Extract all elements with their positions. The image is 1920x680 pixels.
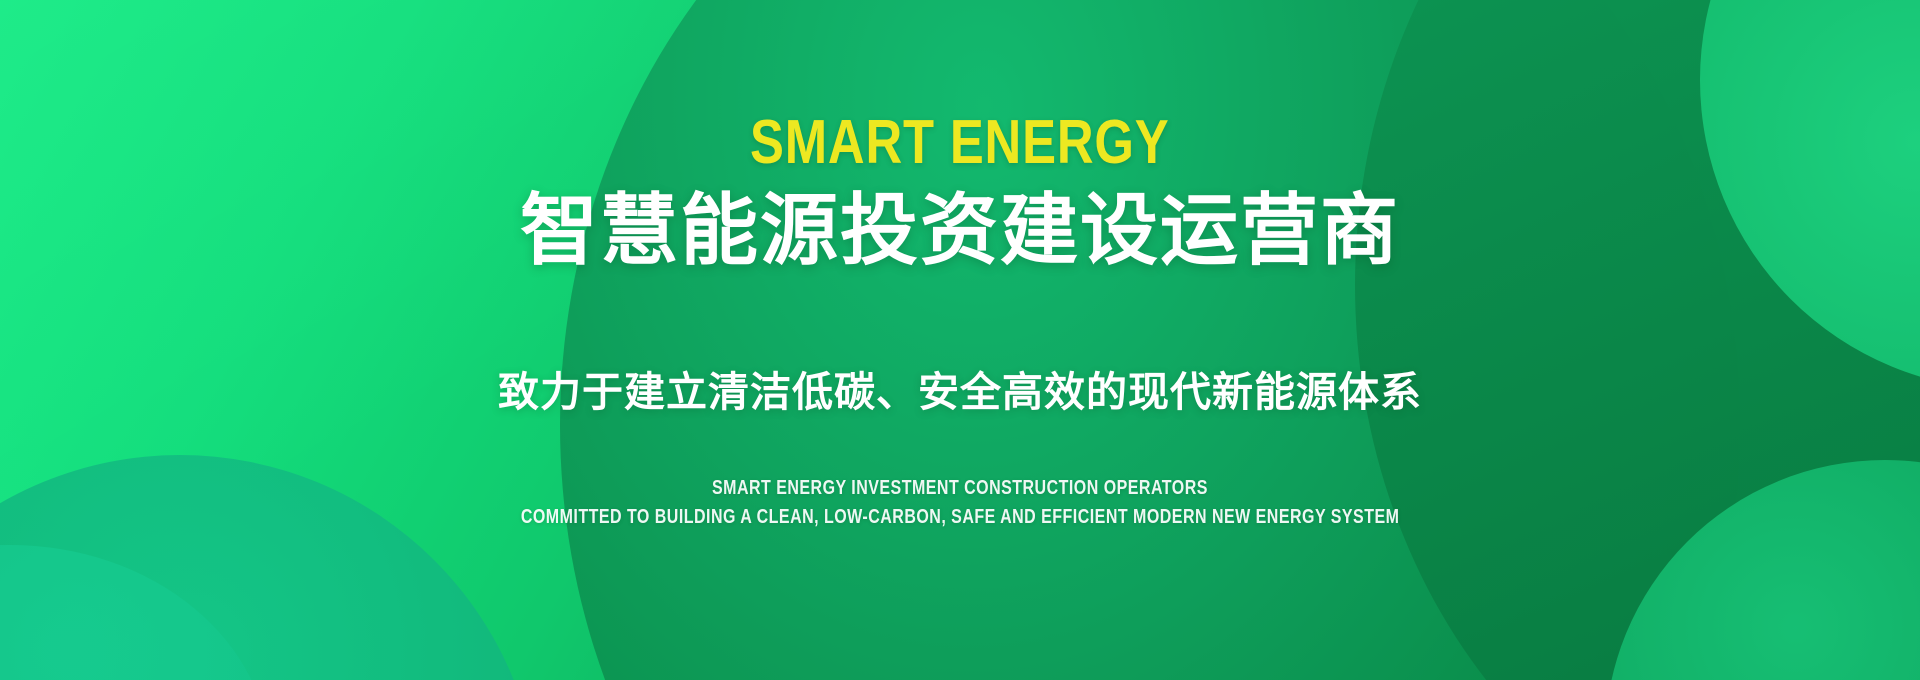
banner-eyebrow: SMART ENERGY [750, 112, 1169, 174]
banner-subheadline: 致力于建立清洁低碳、安全高效的现代新能源体系 [498, 368, 1422, 417]
banner-caption-group: SMART ENERGY INVESTMENT CONSTRUCTION OPE… [411, 476, 1509, 530]
hero-banner: SMART ENERGY 智慧能源投资建设运营商 致力于建立清洁低碳、安全高效的… [0, 0, 1920, 680]
banner-content: SMART ENERGY 智慧能源投资建设运营商 致力于建立清洁低碳、安全高效的… [0, 0, 1920, 680]
banner-caption-line-2: COMMITTED TO BUILDING A CLEAN, LOW-CARBO… [521, 505, 1400, 530]
banner-caption-line-1: SMART ENERGY INVESTMENT CONSTRUCTION OPE… [712, 476, 1208, 501]
banner-headline: 智慧能源投资建设运营商 [520, 188, 1400, 272]
